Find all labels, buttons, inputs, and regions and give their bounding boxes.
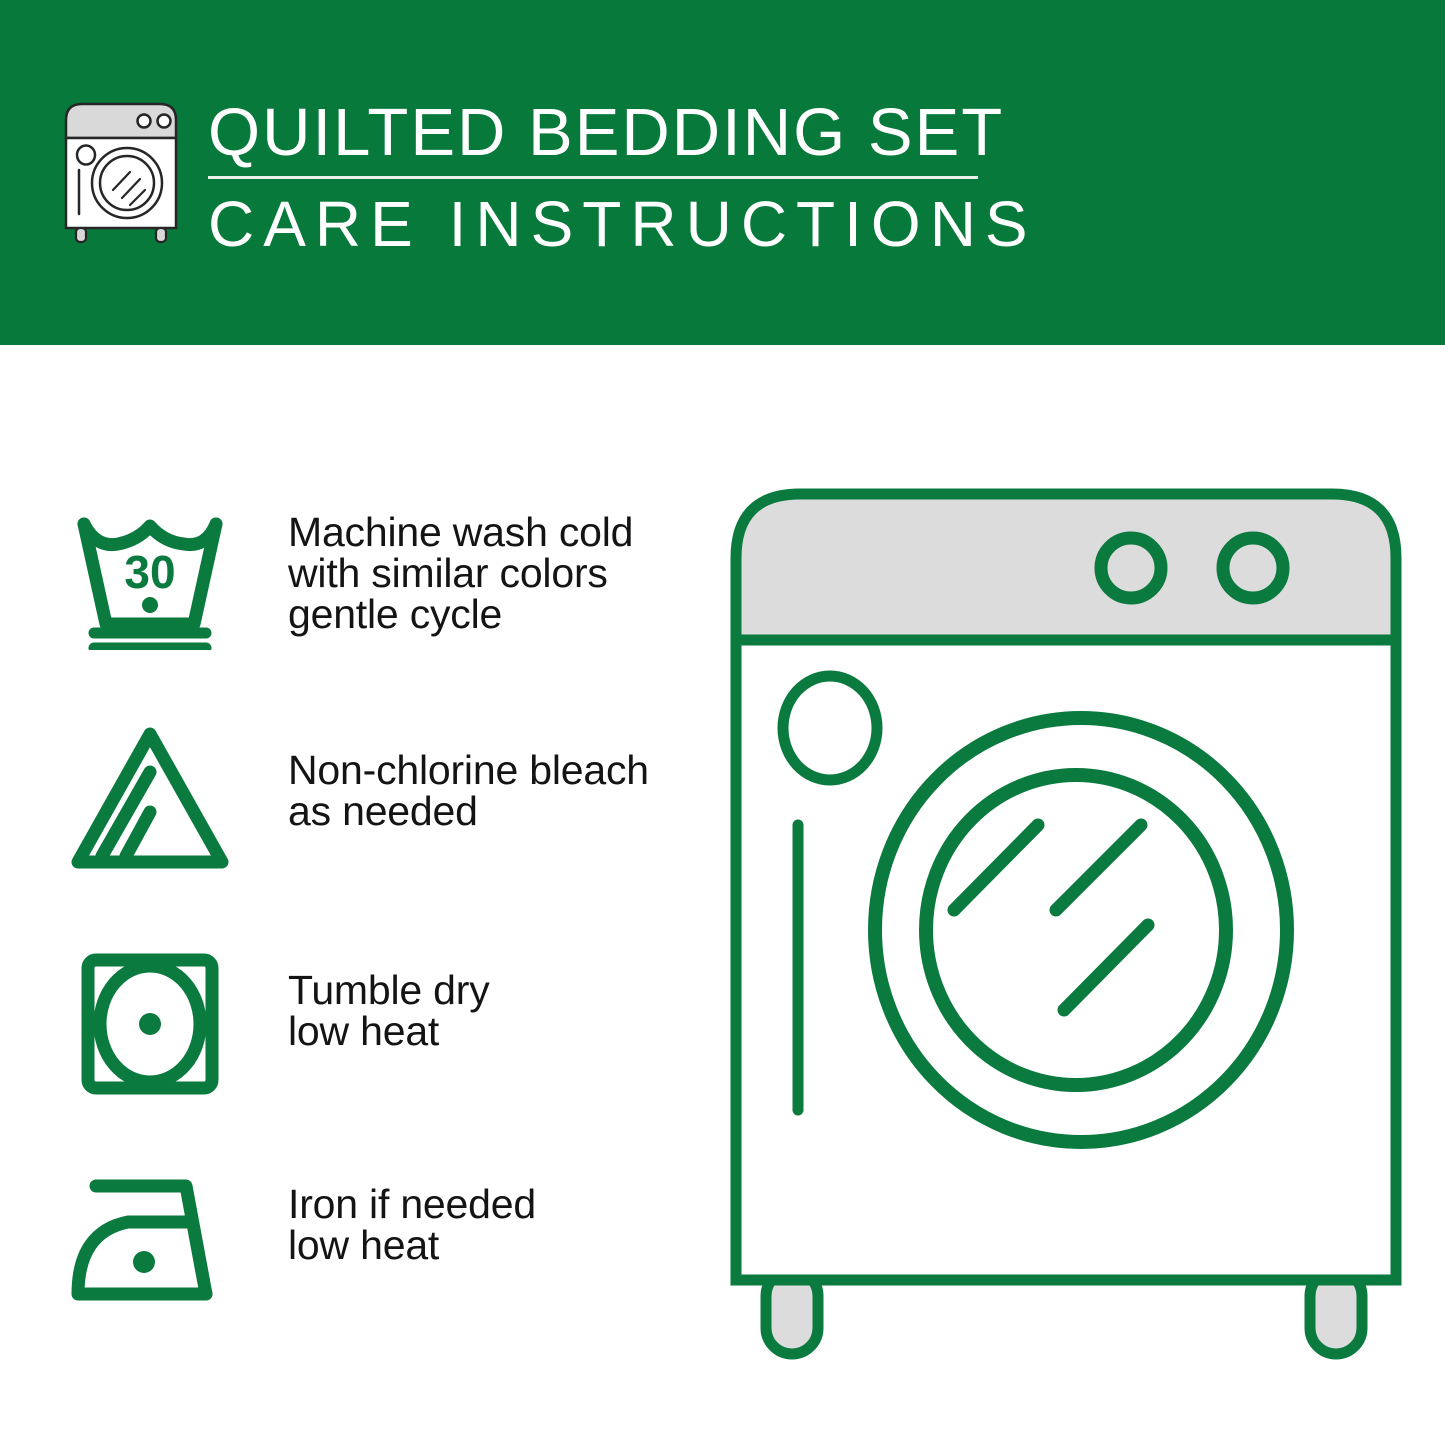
front-load-washing-machine-illustration bbox=[726, 480, 1406, 1360]
care-label-line: low heat bbox=[288, 1225, 700, 1266]
care-row-bleach: Non-chlorine bleach as needed bbox=[0, 722, 700, 877]
washing-machine-logo-icon bbox=[60, 98, 182, 246]
care-label-line: gentle cycle bbox=[288, 594, 700, 635]
care-label-line: Iron if needed bbox=[288, 1184, 700, 1225]
page-subtitle: CARE INSTRUCTIONS bbox=[208, 189, 998, 259]
header-text-block: QUILTED BEDDING SET CARE INSTRUCTIONS bbox=[208, 96, 998, 259]
care-label-line: Machine wash cold bbox=[288, 512, 700, 553]
care-label-iron: Iron if needed low heat bbox=[288, 1162, 700, 1266]
header-banner: QUILTED BEDDING SET CARE INSTRUCTIONS bbox=[0, 0, 1445, 345]
care-label-bleach: Non-chlorine bleach as needed bbox=[288, 722, 700, 832]
machine-control-panel bbox=[736, 494, 1396, 640]
non-chlorine-bleach-triangle-icon bbox=[66, 722, 234, 877]
tumble-dry-low-heat-icon bbox=[66, 948, 234, 1103]
care-label-line: Tumble dry bbox=[288, 970, 700, 1011]
wash-temperature-value: 30 bbox=[124, 546, 175, 598]
care-label-line: with similar colors bbox=[288, 553, 700, 594]
iron-low-heat-icon bbox=[66, 1162, 234, 1317]
care-label-tumble-dry: Tumble dry low heat bbox=[288, 948, 700, 1052]
care-label-line: Non-chlorine bleach bbox=[288, 750, 700, 791]
wash-tub-30-icon: 30 bbox=[66, 500, 234, 655]
page-title: QUILTED BEDDING SET bbox=[208, 96, 998, 170]
care-row-tumble-dry: Tumble dry low heat bbox=[0, 948, 700, 1103]
title-divider bbox=[208, 176, 978, 179]
care-label-line: low heat bbox=[288, 1011, 700, 1052]
care-row-machine-wash: 30 Machine wash cold with similar colors… bbox=[0, 500, 700, 655]
care-row-iron: Iron if needed low heat bbox=[0, 1162, 700, 1317]
care-label-line: as needed bbox=[288, 791, 700, 832]
care-instructions-infographic: QUILTED BEDDING SET CARE INSTRUCTIONS 30 bbox=[0, 0, 1445, 1445]
care-label-machine-wash: Machine wash cold with similar colors ge… bbox=[288, 500, 700, 635]
machine-body bbox=[736, 640, 1396, 1280]
